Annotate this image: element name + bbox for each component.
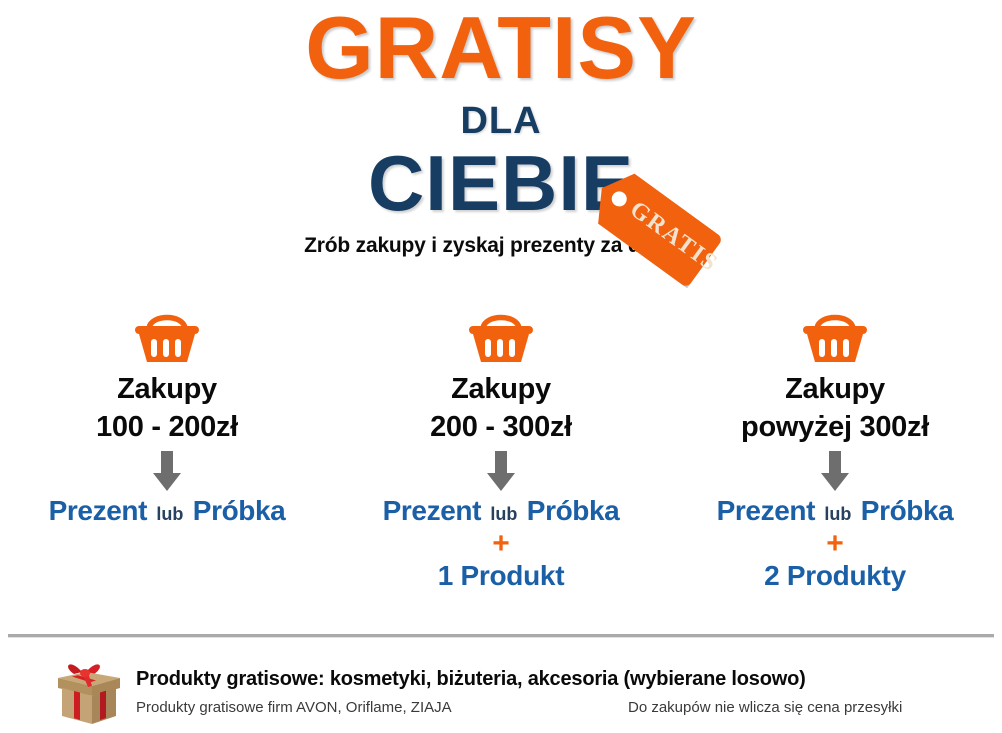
shopping-basket-icon: [334, 306, 668, 366]
reward-sample-label: Próbka: [193, 495, 286, 526]
hero-headline: CIEBIE: [0, 143, 1002, 225]
footer-section: Produkty gratisowe: kosmetyki, biżuteria…: [0, 648, 1002, 733]
hero-tagline: Zrób zakupy i zyskaj prezenty za darmo!: [0, 234, 1002, 258]
page-title: GRATISY: [0, 2, 1002, 94]
footer-brands-note: Produkty gratisowe firm AVON, Oriflame, …: [136, 699, 452, 716]
tier-heading-line1: Zakupy: [0, 370, 334, 408]
footer-shipping-note: Do zakupów nie wlicza się cena przesyłki: [628, 699, 902, 716]
tier-card: Zakupy powyżej 300zł Prezent lub Próbka …: [668, 306, 1002, 592]
reward-gift-label: Prezent: [383, 495, 481, 526]
tier-bonus: 1 Produkt: [334, 559, 668, 593]
shopping-basket-icon: [0, 306, 334, 366]
tier-heading-line2: 100 - 200zł: [0, 408, 334, 446]
reward-conjunction: lub: [822, 504, 853, 524]
tier-heading-line1: Zakupy: [334, 370, 668, 408]
tier-heading-line2: 200 - 300zł: [334, 408, 668, 446]
tier-heading: Zakupy 100 - 200zł: [0, 370, 334, 447]
plus-icon: +: [668, 529, 1002, 559]
hero-section: GRATISY DLA CIEBIE Zrób zakupy i zyskaj …: [0, 0, 1002, 290]
tier-reward: Prezent lub Próbka: [0, 495, 334, 527]
reward-sample-label: Próbka: [861, 495, 954, 526]
reward-gift-label: Prezent: [717, 495, 815, 526]
footer-headline: Produkty gratisowe: kosmetyki, biżuteria…: [136, 668, 806, 691]
arrow-down-icon: [334, 447, 668, 495]
tier-heading: Zakupy powyżej 300zł: [668, 370, 1002, 447]
tier-list: Zakupy 100 - 200zł Prezent lub Próbka: [0, 306, 1002, 592]
promo-poster: GRATISY DLA CIEBIE Zrób zakupy i zyskaj …: [0, 0, 1002, 733]
shopping-basket-icon: [668, 306, 1002, 366]
hero-subtitle: DLA: [0, 100, 1002, 143]
gift-box-icon: [52, 656, 126, 733]
tier-heading-line1: Zakupy: [668, 370, 1002, 408]
tier-heading: Zakupy 200 - 300zł: [334, 370, 668, 447]
tier-card: Zakupy 100 - 200zł Prezent lub Próbka: [0, 306, 334, 592]
tier-bonus: 2 Produkty: [668, 559, 1002, 593]
reward-conjunction: lub: [488, 504, 519, 524]
reward-conjunction: lub: [154, 504, 185, 524]
arrow-down-icon: [668, 447, 1002, 495]
arrow-down-icon: [0, 447, 334, 495]
reward-gift-label: Prezent: [49, 495, 147, 526]
tier-card: Zakupy 200 - 300zł Prezent lub Próbka + …: [334, 306, 668, 592]
footer-divider: [8, 634, 994, 638]
tier-reward: Prezent lub Próbka: [668, 495, 1002, 527]
tier-reward: Prezent lub Próbka: [334, 495, 668, 527]
plus-icon: +: [334, 529, 668, 559]
reward-sample-label: Próbka: [527, 495, 620, 526]
tier-heading-line2: powyżej 300zł: [668, 408, 1002, 446]
